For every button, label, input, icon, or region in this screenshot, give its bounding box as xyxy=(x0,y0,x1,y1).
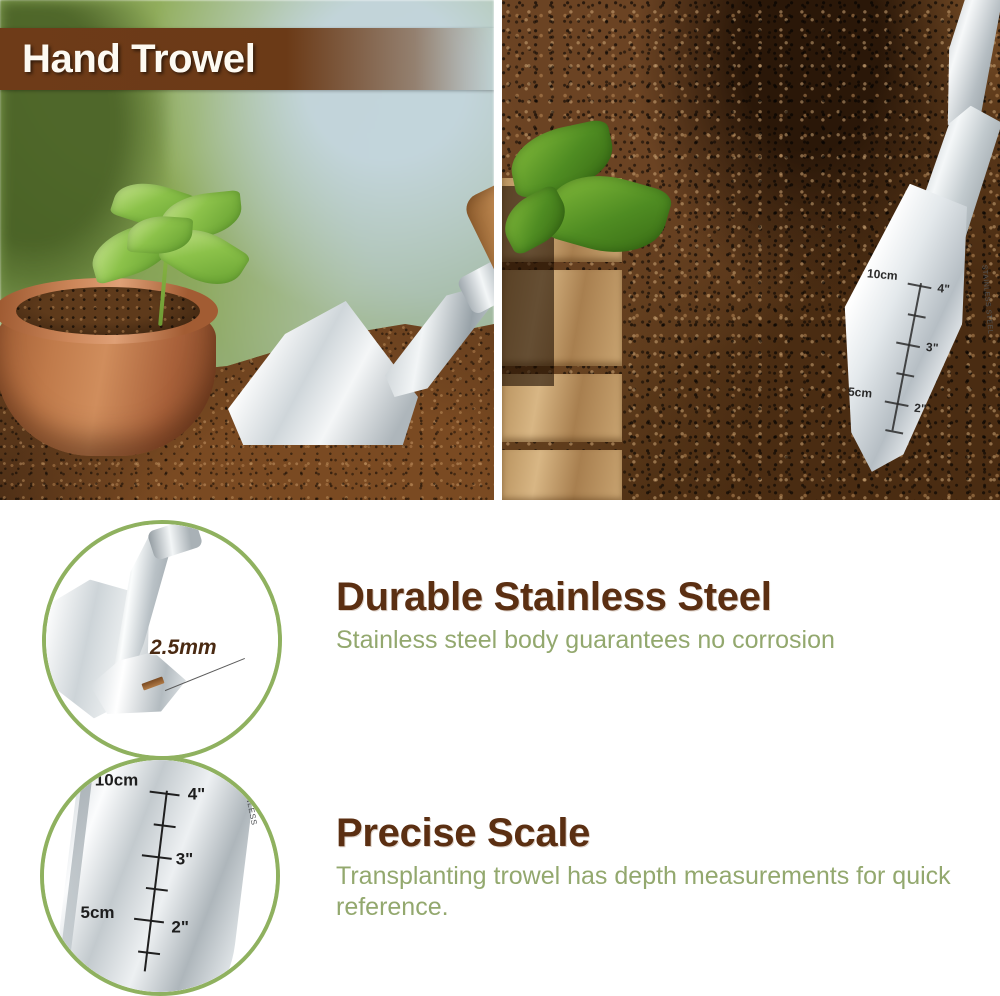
scale-label-3in: 3" xyxy=(176,849,194,869)
hand-trowel-banner: Hand Trowel xyxy=(0,28,494,90)
hand-trowel-banner-label: Hand Trowel xyxy=(22,37,255,82)
scale-label-2in: 2" xyxy=(171,917,189,937)
depth-scale-markings: 10cm 4" 3" 5cm 2" STAINLESS xyxy=(84,776,258,992)
scale-label-3in: 3" xyxy=(925,340,939,355)
hand-trowel-photo: Hand Trowel xyxy=(0,0,494,500)
transplant-trowel-tool: 10cm 4" 3" 5cm 2" STAINLESS STEEL xyxy=(834,0,1000,484)
hand-trowel-tool xyxy=(228,255,494,465)
scale-label-2in: 2" xyxy=(914,401,928,416)
scale-label-4in: 4" xyxy=(188,784,206,804)
scale-label-5cm: 5cm xyxy=(80,903,114,923)
transplant-trowel-photo: 10cm 4" 3" 5cm 2" STAINLESS STEEL Transp… xyxy=(502,0,1000,500)
feature-durable-stainless-steel: Durable Stainless Steel Stainless steel … xyxy=(336,576,976,656)
feature-precise-scale: Precise Scale Transplanting trowel has d… xyxy=(336,812,976,922)
thickness-callout-label: 2.5mm xyxy=(150,636,217,660)
thickness-closeup-image: 2.5mm xyxy=(46,524,278,756)
box-plank xyxy=(502,450,622,500)
product-infographic: Hand Trowel xyxy=(0,0,1000,993)
trowel-ferrule xyxy=(147,524,204,561)
blade-brand-text: STAINLESS STEEL xyxy=(980,265,993,335)
feature-description: Stainless steel body guarantees no corro… xyxy=(336,625,976,656)
feature-title: Precise Scale xyxy=(336,812,976,855)
thickness-closeup-circle: 2.5mm xyxy=(42,520,282,760)
photo-row: Hand Trowel xyxy=(0,0,1000,500)
feature-title: Durable Stainless Steel xyxy=(336,576,976,619)
scale-label-5cm: 5cm xyxy=(848,385,873,401)
scale-label-10cm: 10cm xyxy=(95,771,138,791)
scale-label-10cm: 10cm xyxy=(866,266,898,283)
scale-closeup-circle: 10cm 4" 3" 5cm 2" STAINLESS xyxy=(40,756,280,996)
scale-label-4in: 4" xyxy=(937,281,951,296)
scale-closeup-image: 10cm 4" 3" 5cm 2" STAINLESS xyxy=(44,760,276,992)
feature-description: Transplanting trowel has depth measureme… xyxy=(336,861,976,922)
